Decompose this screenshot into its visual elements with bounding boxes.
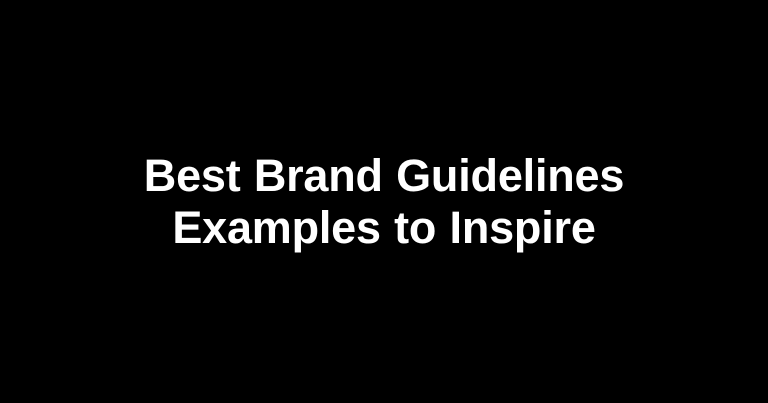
page-title-line-2: Examples to Inspire bbox=[144, 202, 624, 254]
page-title-line-1: Best Brand Guidelines bbox=[144, 150, 624, 202]
hero-banner: Best Brand Guidelines Examples to Inspir… bbox=[0, 0, 768, 403]
page-title: Best Brand Guidelines Examples to Inspir… bbox=[144, 150, 624, 254]
